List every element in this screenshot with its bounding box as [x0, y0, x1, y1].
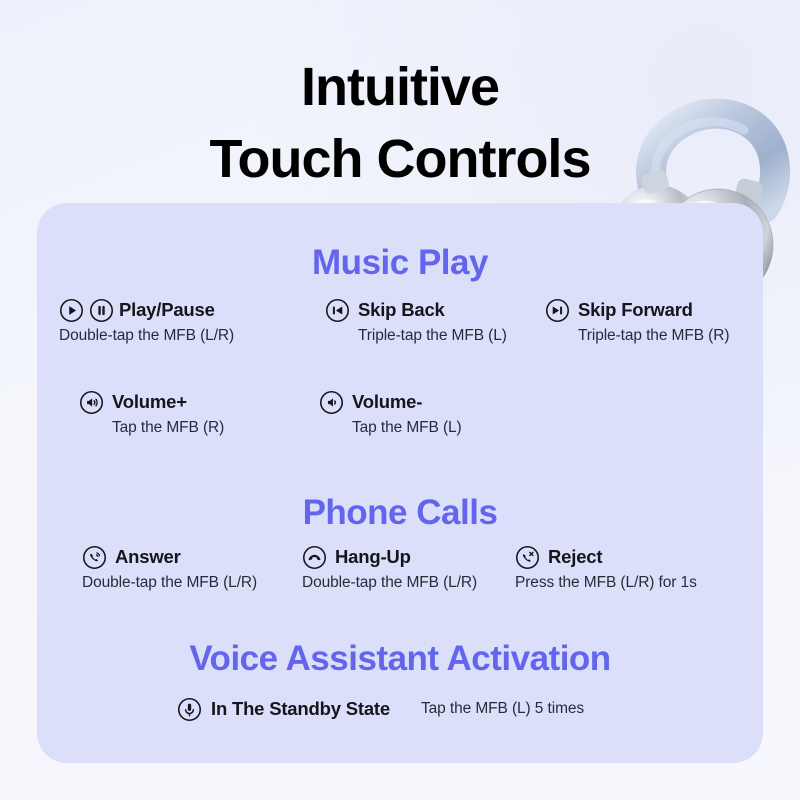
skip-forward-icon — [545, 298, 570, 323]
control-item-hang-up[interactable]: Hang-Up Double-tap the MFB (L/R) — [302, 543, 477, 592]
control-label: Hang-Up — [335, 546, 411, 568]
control-description: Triple-tap the MFB (L) — [358, 327, 507, 345]
control-item-answer[interactable]: Answer Double-tap the MFB (L/R) — [82, 543, 257, 592]
control-label: Skip Forward — [578, 299, 693, 321]
volume-down-icon — [319, 390, 344, 415]
control-description: Tap the MFB (R) — [112, 419, 224, 437]
microphone-icon — [177, 697, 202, 722]
controls-card: Music Play Play/Pause Double-tap the MFB… — [37, 203, 763, 763]
section-heading-phone-calls: Phone Calls — [37, 493, 763, 533]
control-label: In The Standby State — [211, 698, 390, 720]
control-item-skip-forward[interactable]: Skip Forward Triple-tap the MFB (R) — [545, 296, 729, 345]
play-icon — [59, 298, 84, 323]
control-item-volume-down[interactable]: Volume- Tap the MFB (L) — [319, 388, 462, 437]
phone-answer-icon — [82, 545, 107, 570]
control-label: Answer — [115, 546, 181, 568]
control-label: Reject — [548, 546, 602, 568]
control-description: Triple-tap the MFB (R) — [578, 327, 729, 345]
section-heading-voice-assistant: Voice Assistant Activation — [37, 639, 763, 679]
phone-reject-icon — [515, 545, 540, 570]
volume-up-icon — [79, 390, 104, 415]
control-item-voice-assistant[interactable]: In The Standby State Tap the MFB (L) 5 t… — [177, 695, 584, 723]
control-label: Volume+ — [112, 391, 187, 413]
infographic-page: Intuitive Touch Controls — [0, 0, 800, 800]
control-label: Skip Back — [358, 299, 445, 321]
control-item-volume-up[interactable]: Volume+ Tap the MFB (R) — [79, 388, 224, 437]
control-label: Volume- — [352, 391, 422, 413]
control-item-reject[interactable]: Reject Press the MFB (L/R) for 1s — [515, 543, 697, 592]
section-heading-music-play: Music Play — [37, 243, 763, 283]
skip-back-icon — [325, 298, 350, 323]
control-description: Tap the MFB (L) 5 times — [421, 700, 584, 718]
control-description: Tap the MFB (L) — [352, 419, 462, 437]
control-description: Press the MFB (L/R) for 1s — [515, 574, 697, 592]
phone-hangup-icon — [302, 545, 327, 570]
control-description: Double-tap the MFB (L/R) — [302, 574, 477, 592]
control-item-play-pause[interactable]: Play/Pause Double-tap the MFB (L/R) — [59, 296, 234, 345]
control-item-skip-back[interactable]: Skip Back Triple-tap the MFB (L) — [325, 296, 507, 345]
control-description: Double-tap the MFB (L/R) — [59, 327, 234, 345]
control-label: Play/Pause — [119, 299, 215, 321]
pause-icon — [89, 298, 114, 323]
control-description: Double-tap the MFB (L/R) — [82, 574, 257, 592]
